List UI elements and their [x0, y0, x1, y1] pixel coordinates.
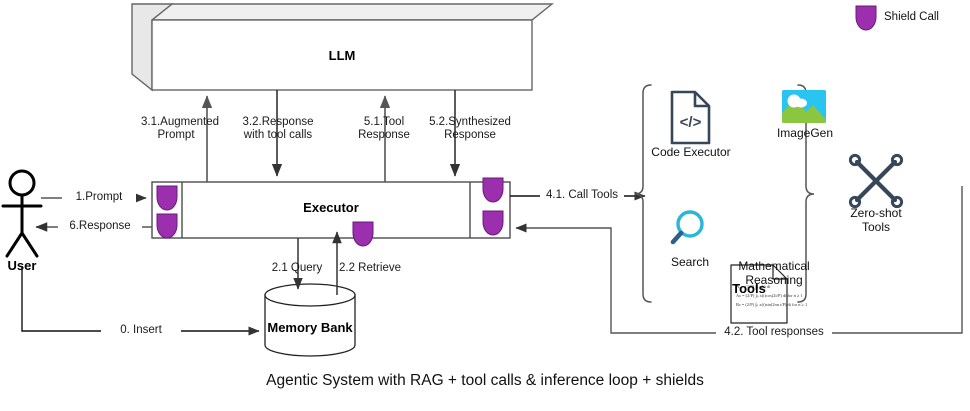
edge-label-tool-responses: 4.2. Tool responses [716, 326, 832, 339]
edge-label-response-tool-calls: 3.2.Response with tool calls [239, 116, 317, 142]
code-document-icon: </> [672, 92, 709, 143]
llm-label: LLM [262, 48, 422, 63]
shield-icon-executor-right-1 [483, 178, 503, 202]
diagram-vector-layer: </> A₀ = (1/P) ∫ₚ x(t) dt Aₙ = (2/P) ∫ₚ … [0, 0, 970, 411]
edge-label-query: 2.1 Query [262, 262, 332, 275]
shield-icon-executor-left-1 [157, 186, 177, 210]
tool-label-imagegen: ImageGen [765, 126, 845, 140]
shield-icon-legend [856, 6, 876, 30]
shield-icon-executor-left-2 [157, 214, 177, 238]
user-label: User [0, 258, 52, 273]
user-actor [3, 171, 41, 256]
tool-label-search: Search [655, 255, 725, 269]
edge-label-call-tools: 4.1. Call Tools [540, 189, 624, 202]
edge-label-prompt: 1.Prompt [62, 191, 136, 204]
memory-bank-label: Memory Bank [250, 320, 370, 335]
crossed-wrenches-icon [850, 155, 901, 206]
image-icon [782, 90, 826, 123]
legend-shield-label: Shield Call [884, 11, 939, 23]
llm-node [132, 4, 552, 90]
tool-label-code-executor: Code Executor [645, 145, 737, 159]
edge-insert [22, 266, 259, 331]
magnifier-icon [673, 212, 702, 242]
edge-label-synthesized-response: 5.2.Synthesized Response [424, 116, 516, 142]
edge-label-augmented-prompt: 3.1.Augmented Prompt [141, 116, 211, 142]
edge-label-insert: 0. Insert [101, 324, 181, 337]
svg-text:</>: </> [680, 114, 702, 131]
shield-icon-executor-right-2 [483, 211, 503, 235]
edge-label-retrieve: 2.2 Retrieve [330, 262, 410, 275]
edge-label-response: 6.Response [58, 220, 142, 233]
diagram-caption: Agentic System with RAG + tool calls & i… [0, 372, 970, 390]
tool-label-zero-shot-tools: Zero-shot Tools [831, 206, 921, 234]
edge-label-tool-response: 5.1.Tool Response [351, 116, 417, 142]
shield-icon-executor-bottom [353, 222, 373, 246]
executor-label: Executor [251, 200, 411, 215]
tool-label-mathematical-reasoning: Mathematical Reasoning [716, 259, 832, 287]
diagram-canvas: </> A₀ = (1/P) ∫ₚ x(t) dt Aₙ = (2/P) ∫ₚ … [0, 0, 970, 411]
